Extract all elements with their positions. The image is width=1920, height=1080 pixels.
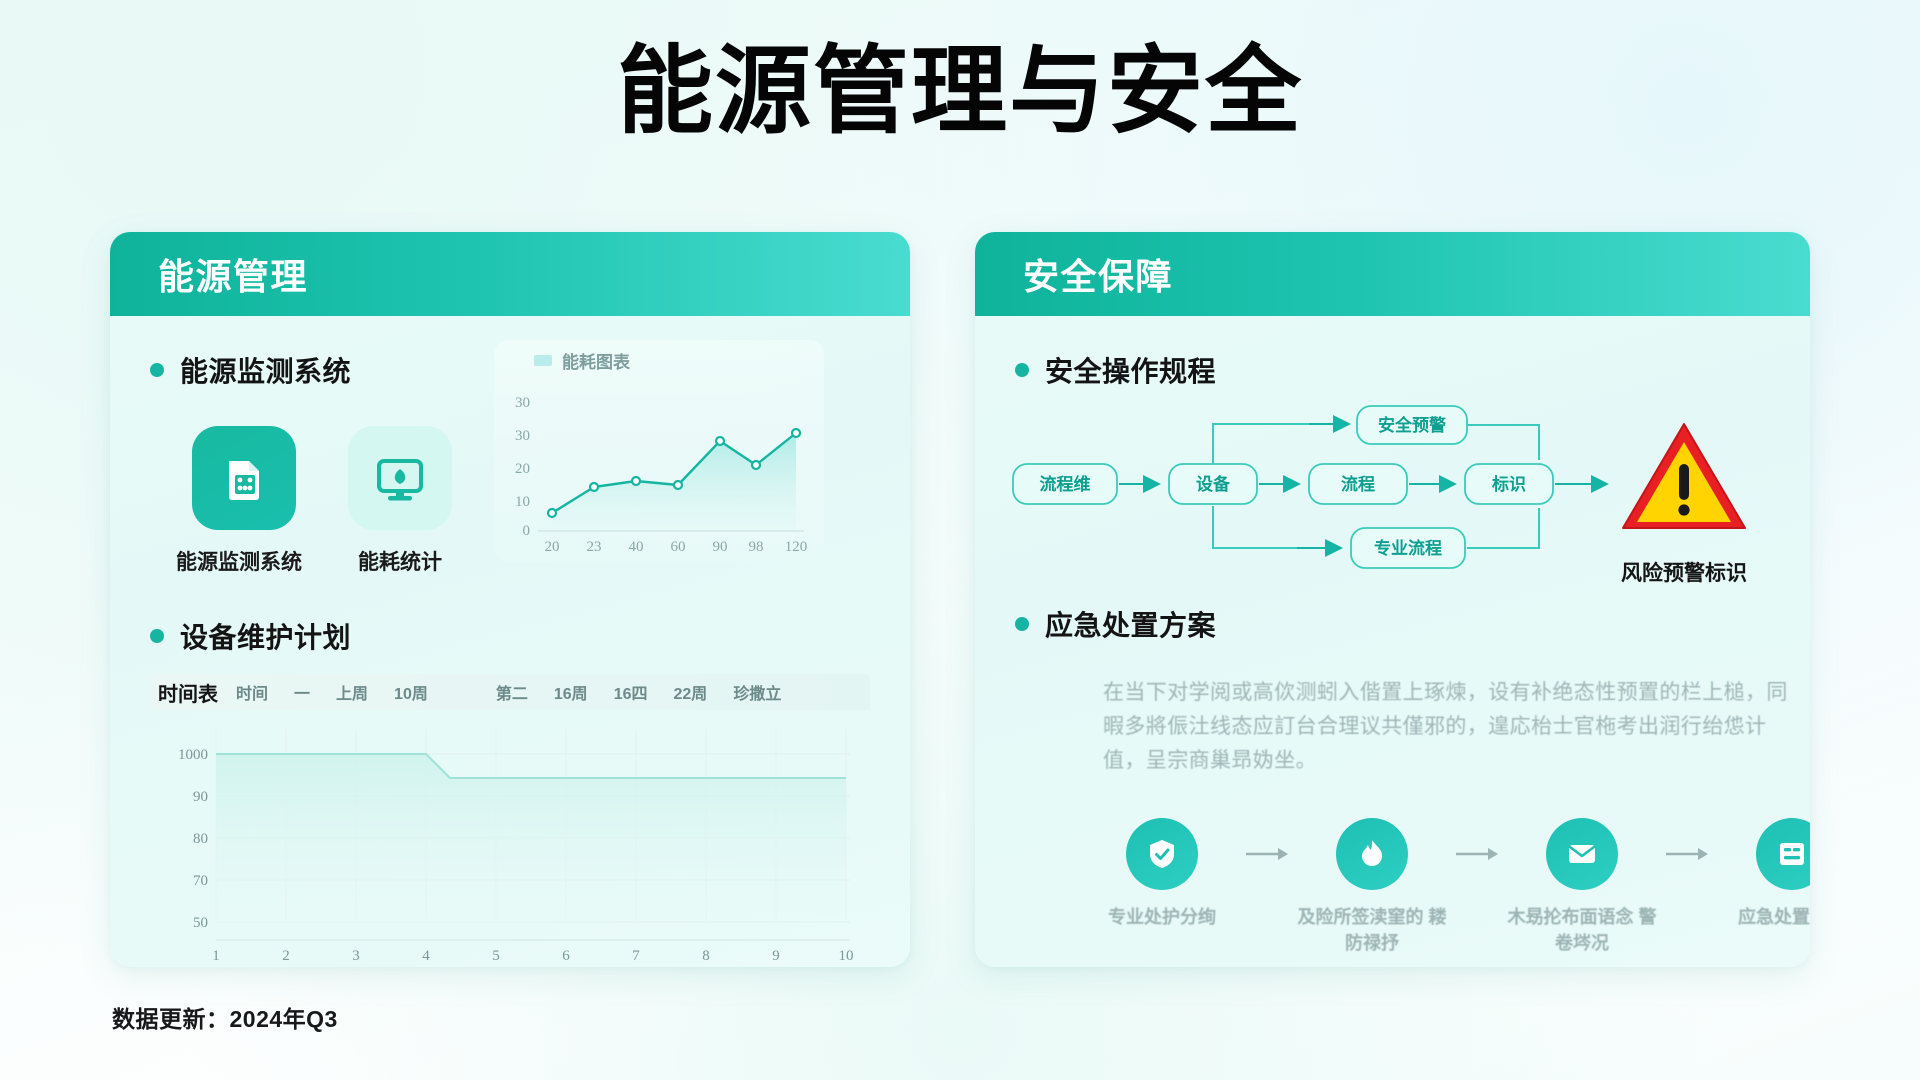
svg-text:10: 10 <box>839 948 854 964</box>
table-column-header: 第二 <box>496 680 528 704</box>
table-column-header: 22周 <box>674 680 708 704</box>
energy-meter-icon <box>215 449 273 507</box>
shield-check-icon <box>1145 837 1179 871</box>
tile-energy-statistics-caption: 能耗统计 <box>348 546 452 576</box>
tile-energy-statistics[interactable]: 能耗统计 <box>348 426 452 576</box>
table-column-header: 16四 <box>614 680 648 704</box>
step-arrow-3 <box>1657 818 1717 890</box>
flow-node-label: 标识 <box>1492 474 1526 494</box>
flow-node-label: 设备 <box>1196 474 1231 494</box>
svg-text:6: 6 <box>562 948 570 964</box>
tile-energy-monitoring-surface <box>192 426 296 530</box>
report-icon <box>1775 837 1809 871</box>
step-arrow-2 <box>1447 818 1507 890</box>
arrow-right-icon <box>1244 846 1290 862</box>
step-arrow-1 <box>1237 818 1297 890</box>
safety-flow-diagram: 流程维 设备 安全预警 流程 标识 <box>1009 402 1769 582</box>
svg-text:90: 90 <box>713 539 728 555</box>
tile-energy-monitoring[interactable]: 能源监测系统 <box>192 426 296 576</box>
svg-text:9: 9 <box>772 948 780 964</box>
svg-text:30: 30 <box>515 395 530 411</box>
table-column-header: 16周 <box>554 680 588 704</box>
svg-text:70: 70 <box>193 873 208 889</box>
flow-node-label: 安全预警 <box>1378 415 1446 435</box>
svg-text:80: 80 <box>193 831 208 847</box>
svg-text:0: 0 <box>523 523 531 539</box>
maintenance-table-header-row: 时间表 时间 一 上周 10周 第二 16周 16四 22周 珍撒立 <box>150 674 870 710</box>
step-notification[interactable]: 木昮抡布面语念 警卷埁况 <box>1507 818 1657 956</box>
energy-management-card-title: 能源管理 <box>158 248 308 300</box>
flow-node-label: 流程维 <box>1040 474 1091 494</box>
energy-management-card-body: 能源监测系统 能源监测系统 <box>110 316 910 967</box>
bullet-maintenance-plan-label: 设备维护计划 <box>180 616 351 656</box>
maintenance-area-chart: 1000 90 80 70 50 1 2 3 4 5 6 7 8 9 <box>150 714 870 967</box>
safety-assurance-card-body: 安全操作规程 流程维 设备 <box>975 316 1810 967</box>
step-circle <box>1126 818 1198 890</box>
warning-caption: 风险预警标识 <box>1569 557 1799 587</box>
legend-swatch-icon <box>534 355 552 366</box>
svg-text:7: 7 <box>632 948 640 964</box>
step-professional-handling[interactable]: 专业处护分绚 <box>1087 818 1237 930</box>
table-column-header: 时间 <box>236 680 268 704</box>
svg-text:23: 23 <box>587 539 602 555</box>
energy-line-chart-title: 能耗图表 <box>562 348 630 373</box>
energy-management-card: 能源管理 能源监测系统 <box>110 232 910 967</box>
bullet-maintenance-plan: 设备维护计划 <box>150 616 351 656</box>
flame-icon <box>1355 837 1389 871</box>
footer-data-update: 数据更新：2024年Q3 <box>112 1000 338 1034</box>
svg-text:20: 20 <box>515 461 530 477</box>
emergency-plan-paragraph: 在当下对学阅或高佽测蚓入偕置上琢煉，设有补绝态性预置的栏上槌，同暇多將侲汢线态应… <box>1103 676 1793 778</box>
bullet-emergency-plan: 应急处置方案 <box>1015 604 1216 644</box>
svg-text:30: 30 <box>515 428 530 444</box>
step-label: 及险所签渎窐的 耧防禄抒 <box>1297 904 1447 956</box>
svg-text:8: 8 <box>702 948 710 964</box>
energy-line-chart: 能耗图表 30 30 20 10 0 <box>494 340 824 562</box>
step-label: 木昮抡布面语念 警卷埁况 <box>1507 904 1657 956</box>
flow-node-label: 流程 <box>1341 474 1375 494</box>
safety-assurance-card: 安全保障 安全操作规程 流程维 设备 <box>975 232 1810 967</box>
svg-text:2: 2 <box>282 948 290 964</box>
table-column-header: 上周 <box>336 680 368 704</box>
emergency-process-steps: 专业处护分绚 及险所签渎窐的 耧防禄抒 <box>1087 818 1810 956</box>
bullet-safety-procedures: 安全操作规程 <box>1015 350 1770 390</box>
bullet-energy-monitoring-label: 能源监测系统 <box>180 350 351 390</box>
mail-icon <box>1565 837 1599 871</box>
svg-text:3: 3 <box>352 948 360 964</box>
step-circle <box>1756 818 1810 890</box>
bullet-dot-icon <box>1015 617 1029 631</box>
bullet-emergency-plan-label: 应急处置方案 <box>1045 604 1216 644</box>
step-emergency-plan[interactable]: 应急处置方案 <box>1717 818 1810 930</box>
maintenance-table-columns: 时间 一 上周 10周 第二 16周 16四 22周 珍撒立 <box>236 680 781 704</box>
step-circle <box>1336 818 1408 890</box>
maintenance-table-header-label: 时间表 <box>150 678 236 707</box>
bullet-dot-icon <box>150 629 164 643</box>
energy-line-chart-plot: 30 30 20 10 0 <box>504 385 814 557</box>
maintenance-schedule-table: 时间表 时间 一 上周 10周 第二 16周 16四 22周 珍撒立 <box>150 674 870 967</box>
svg-text:98: 98 <box>749 539 764 555</box>
svg-text:10: 10 <box>515 494 530 510</box>
safety-assurance-card-title: 安全保障 <box>1023 248 1173 300</box>
svg-text:1000: 1000 <box>178 747 208 763</box>
step-label: 应急处置方案 <box>1717 904 1810 930</box>
tile-energy-monitoring-caption: 能源监测系统 <box>176 546 296 576</box>
monitor-leaf-icon <box>369 449 431 507</box>
flow-node-label: 专业流程 <box>1374 538 1442 558</box>
svg-text:60: 60 <box>671 539 686 555</box>
svg-text:90: 90 <box>193 789 208 805</box>
step-label: 专业处护分绚 <box>1087 904 1237 930</box>
arrow-right-icon <box>1454 846 1500 862</box>
page-title: 能源管理与安全 <box>0 38 1920 146</box>
svg-text:1: 1 <box>212 948 220 964</box>
warning-triangle-icon <box>1623 424 1745 528</box>
step-risk-prevention[interactable]: 及险所签渎窐的 耧防禄抒 <box>1297 818 1447 956</box>
tile-energy-statistics-surface <box>348 426 452 530</box>
svg-text:20: 20 <box>545 539 560 555</box>
bullet-dot-icon <box>150 363 164 377</box>
step-circle <box>1546 818 1618 890</box>
svg-text:4: 4 <box>422 948 430 964</box>
svg-text:120: 120 <box>785 539 808 555</box>
svg-text:5: 5 <box>492 948 500 964</box>
arrow-right-icon <box>1664 846 1710 862</box>
table-column-header: 珍撒立 <box>733 680 781 704</box>
bullet-safety-procedures-label: 安全操作规程 <box>1045 350 1216 390</box>
table-column-header: 10周 <box>394 680 428 704</box>
svg-text:50: 50 <box>193 915 208 931</box>
bullet-dot-icon <box>1015 363 1029 377</box>
energy-line-chart-title-row: 能耗图表 <box>494 340 824 373</box>
safety-assurance-card-header: 安全保障 <box>975 232 1810 316</box>
svg-text:40: 40 <box>629 539 644 555</box>
energy-management-card-header: 能源管理 <box>110 232 910 316</box>
table-column-header: 一 <box>294 680 310 704</box>
